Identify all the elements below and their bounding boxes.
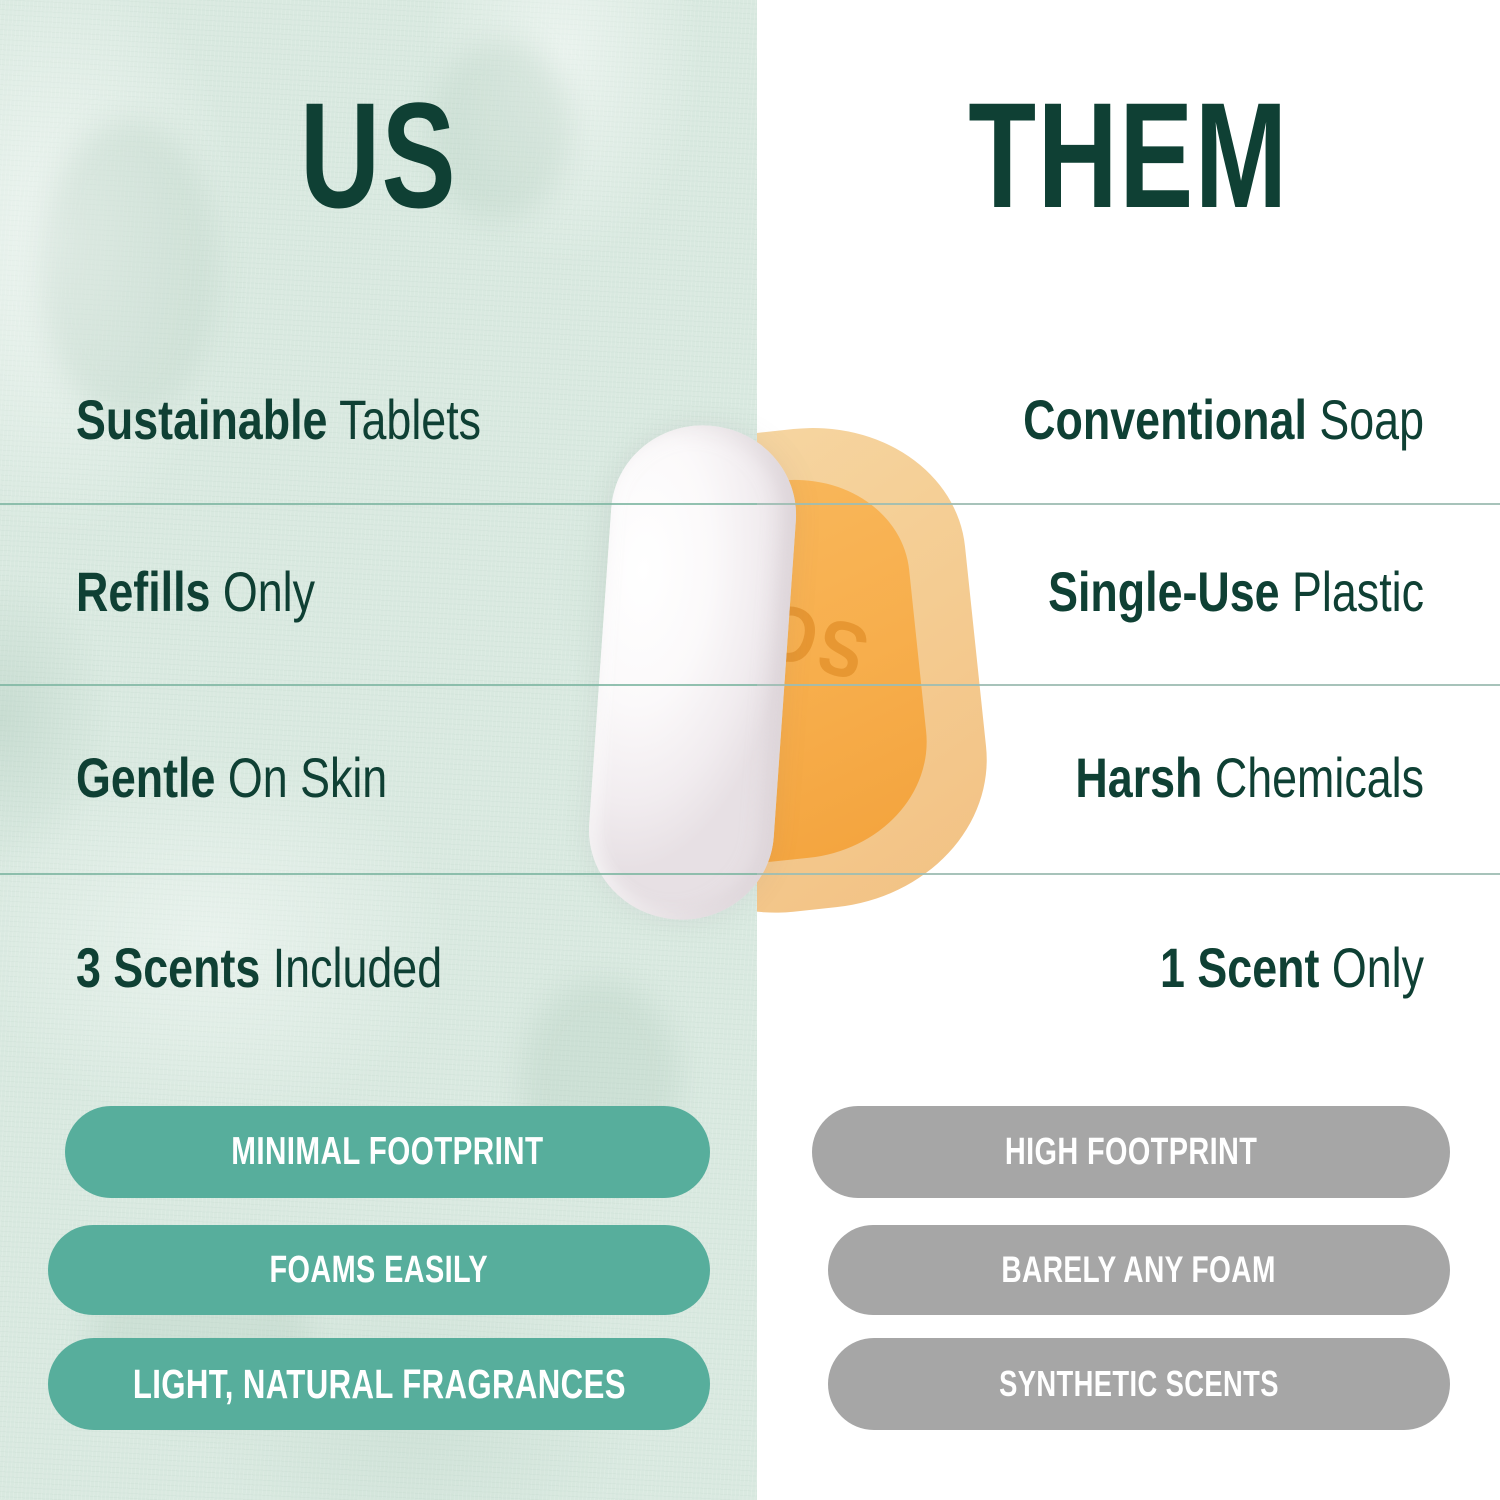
us-feature-row-3: Gentle On Skin xyxy=(0,748,606,808)
them-feature-row-1: Conventional Soap xyxy=(906,390,1500,450)
them-pill-3-label: SYNTHETIC SCENTS xyxy=(999,1363,1279,1405)
them-pill-barely-any-foam[interactable]: BARELY ANY FOAM xyxy=(828,1225,1450,1315)
us-column-heading: US xyxy=(98,80,658,230)
them-feature-4-text: Only xyxy=(1332,936,1424,999)
us-pill-3-label: LIGHT, NATURAL FRAGRANCES xyxy=(132,1361,625,1408)
us-feature-row-4: 3 Scents Included xyxy=(0,938,606,998)
them-pill-1-label: HIGH FOOTPRINT xyxy=(1005,1131,1257,1174)
us-pill-minimal-footprint[interactable]: MINIMAL FOOTPRINT xyxy=(65,1106,710,1198)
row-divider-left-segment xyxy=(0,684,757,686)
row-divider-left-segment xyxy=(0,873,757,875)
soap-bar-outer-edge xyxy=(757,412,1001,927)
us-feature-3-text: On Skin xyxy=(228,746,387,809)
them-feature-4-emphasis: 1 Scent xyxy=(1160,936,1319,999)
them-feature-row-2: Single-Use Plastic xyxy=(906,562,1500,622)
them-pill-2-label: BARELY ANY FOAM xyxy=(1002,1249,1276,1291)
soap-bar-inner-face xyxy=(757,468,938,873)
us-feature-4-text: Included xyxy=(273,936,442,999)
us-feature-3-emphasis: Gentle xyxy=(76,746,215,809)
us-feature-1-text: Tablets xyxy=(339,388,481,451)
us-feature-1-emphasis: Sustainable xyxy=(76,388,327,451)
us-feature-4-emphasis: 3 Scents xyxy=(76,936,260,999)
us-pill-light-natural-fragrances[interactable]: LIGHT, NATURAL FRAGRANCES xyxy=(48,1338,710,1430)
us-feature-row-1: Sustainable Tablets xyxy=(0,390,606,450)
them-feature-1-text: Soap xyxy=(1319,388,1424,451)
row-divider-right-segment xyxy=(757,503,1500,505)
them-feature-row-3: Harsh Chemicals xyxy=(906,748,1500,808)
us-feature-row-2: Refills Only xyxy=(0,562,606,622)
row-divider-1 xyxy=(0,503,1500,505)
them-feature-2-text: Plastic xyxy=(1292,560,1424,623)
them-feature-row-4: 1 Scent Only xyxy=(906,938,1500,998)
us-feature-2-text: Only xyxy=(223,560,315,623)
them-column-heading: THEM xyxy=(854,80,1404,230)
us-pill-2-label: FOAMS EASILY xyxy=(270,1249,489,1292)
soap-embossed-label: SOAP xyxy=(757,552,877,699)
us-feature-2-emphasis: Refills xyxy=(76,560,210,623)
row-divider-3 xyxy=(0,873,1500,875)
them-feature-1-emphasis: Conventional xyxy=(1023,388,1307,451)
row-divider-right-segment xyxy=(757,684,1500,686)
comparison-infographic: SOAP US THEM Sustainable Tablets Refills… xyxy=(0,0,1500,1500)
us-pill-foams-easily[interactable]: FOAMS EASILY xyxy=(48,1225,710,1315)
row-divider-2 xyxy=(0,684,1500,686)
them-pill-high-footprint[interactable]: HIGH FOOTPRINT xyxy=(812,1106,1450,1198)
them-feature-3-text: Chemicals xyxy=(1215,746,1424,809)
row-divider-right-segment xyxy=(757,873,1500,875)
them-feature-2-emphasis: Single-Use xyxy=(1048,560,1280,623)
them-pill-synthetic-scents[interactable]: SYNTHETIC SCENTS xyxy=(828,1338,1450,1430)
orange-soap-bar: SOAP xyxy=(757,430,987,910)
us-pill-1-label: MINIMAL FOOTPRINT xyxy=(231,1130,543,1174)
them-feature-3-emphasis: Harsh xyxy=(1075,746,1202,809)
row-divider-left-segment xyxy=(0,503,757,505)
